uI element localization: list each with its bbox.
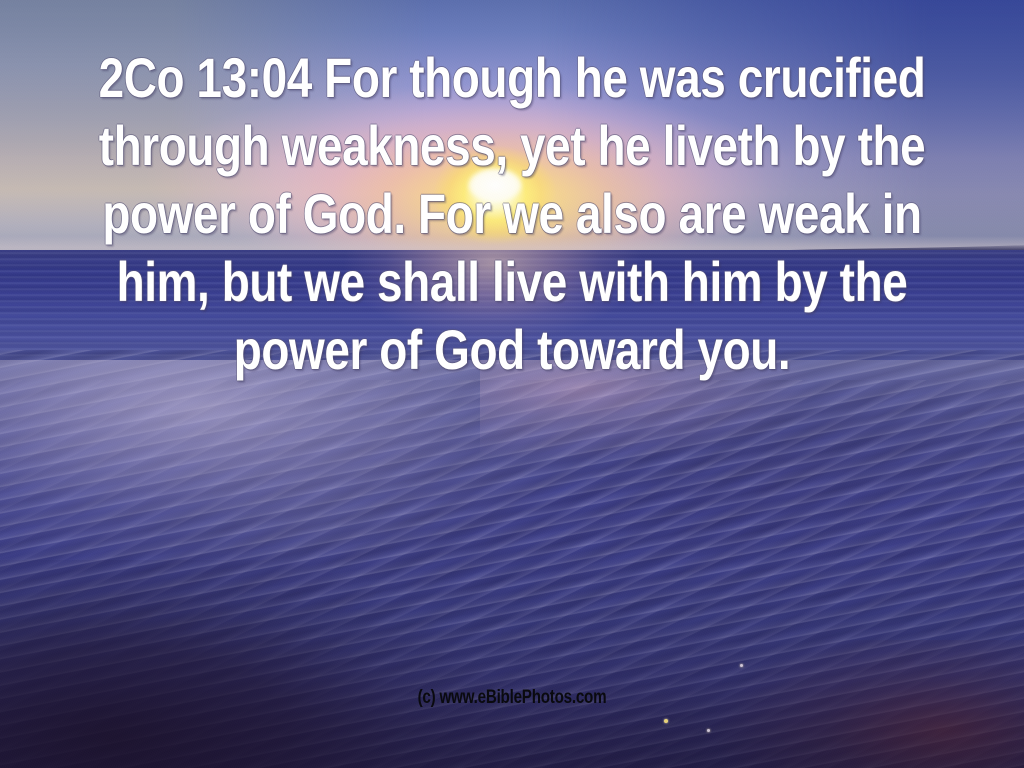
dust-speck [707,729,710,732]
sun-disc [468,168,522,202]
dust-speck [740,664,743,667]
verse-image: 2Co 13:04 For though he was crucified th… [0,0,1024,768]
snow-warm-catchlight [480,360,1024,510]
snow-dark-vignette [0,560,620,768]
copyright-watermark: (c) www.eBiblePhotos.com [102,688,921,707]
dust-speck [664,719,668,723]
